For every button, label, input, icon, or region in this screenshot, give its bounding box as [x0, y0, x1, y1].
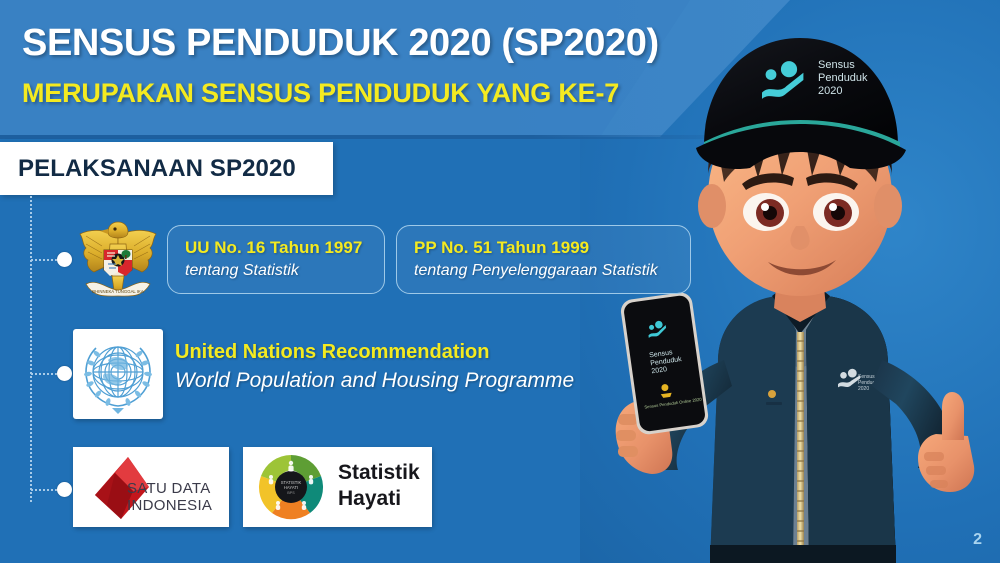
svg-text:BPS: BPS: [287, 491, 295, 495]
law-box-2-title: PP No. 51 Tahun 1999: [414, 238, 589, 258]
section-banner: PELAKSANAAN SP2020: [0, 142, 333, 195]
un-recommendation-title: United Nations Recommendation: [175, 341, 489, 364]
satu-data-indonesia-line1: SATU DATA: [127, 481, 212, 498]
garuda-pancasila-emblem: BHINNEKA TUNGGAL IKA: [72, 214, 164, 306]
page-number: 2: [973, 531, 982, 549]
law-box-2-subtitle: tentang Penyelenggaraan Statistik: [414, 262, 658, 280]
united-nations-logo-card: [73, 329, 163, 419]
section-banner-label: PELAKSANAAN SP2020: [18, 155, 296, 183]
law-box-1: UU No. 16 Tahun 1997 tentang Statistik: [167, 225, 385, 294]
un-recommendation-subtitle: World Population and Housing Programme: [175, 369, 574, 393]
connector-dot-row3: [57, 482, 72, 497]
statistik-hayati-line2: Hayati: [338, 486, 420, 512]
svg-text:Sensus: Sensus: [818, 59, 855, 71]
slide-root: Sensus Penduduk 2020: [0, 0, 1000, 563]
connector-dot-row1: [57, 252, 72, 267]
connector-vertical-line: [30, 196, 32, 502]
page-subtitle: MERUPAKAN SENSUS PENDUDUK YANG KE-7: [22, 78, 619, 109]
svg-text:2020: 2020: [858, 386, 869, 392]
satu-data-indonesia-line2: INDONESIA: [127, 498, 212, 515]
svg-text:HAYATI: HAYATI: [284, 485, 298, 490]
svg-text:2020: 2020: [818, 85, 842, 97]
statistik-hayati-line1: Statistik: [338, 460, 420, 486]
svg-text:Penduduk: Penduduk: [818, 72, 868, 84]
law-box-2: PP No. 51 Tahun 1999 tentang Penyelengga…: [396, 225, 691, 294]
law-box-1-title: UU No. 16 Tahun 1997: [185, 238, 362, 258]
connector-dot-row2: [57, 366, 72, 381]
statistik-hayati-text: Statistik Hayati: [338, 460, 420, 513]
header-band-overlay: [0, 0, 690, 137]
united-nations-logo: [74, 330, 162, 418]
page-title: SENSUS PENDUDUK 2020 (SP2020): [22, 22, 659, 65]
satu-data-indonesia-text: SATU DATA INDONESIA: [127, 481, 212, 515]
law-box-1-subtitle: tentang Statistik: [185, 262, 299, 280]
svg-text:BHINNEKA TUNGGAL IKA: BHINNEKA TUNGGAL IKA: [92, 289, 144, 294]
